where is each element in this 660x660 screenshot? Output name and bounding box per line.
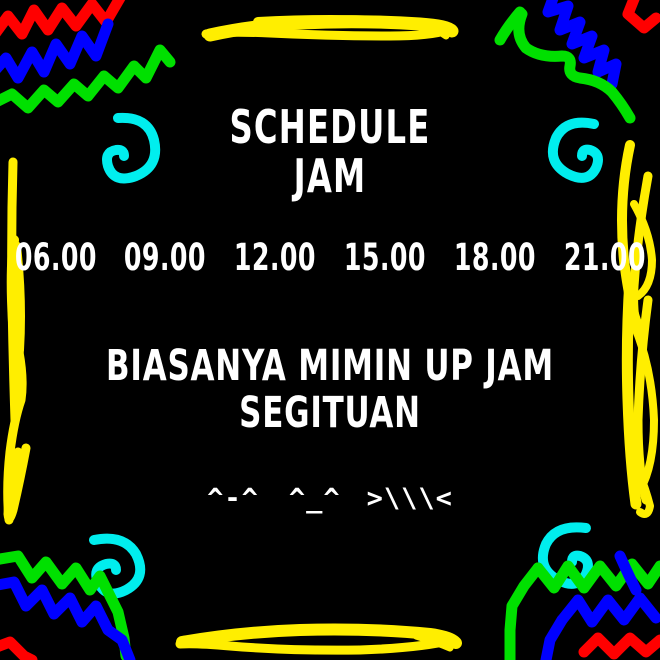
schedule-time-slot: 06.00 (14, 236, 97, 279)
emoticon-fish: >\\\< (367, 483, 453, 514)
body-text-line-2: SEGITUAN (66, 392, 594, 435)
page-title-line-2: JAM (73, 153, 588, 199)
schedule-time-slot: 18.00 (453, 236, 536, 279)
schedule-time-slot: 21.00 (563, 236, 646, 279)
emoticon-happy-cat: ^-^ (207, 483, 259, 514)
text-layer: SCHEDULE JAM 06.00 09.00 12.00 15.00 18.… (0, 0, 660, 660)
page-title-line-1: SCHEDULE (73, 104, 588, 150)
emoticon-smile: ^_^ (289, 483, 341, 514)
emoticon-row: ^-^ ^_^ >\\\< (0, 483, 660, 514)
body-text-line-1: BIASANYA MIMIN UP JAM (66, 345, 594, 388)
schedule-time-slot: 12.00 (233, 236, 316, 279)
poster-canvas: SCHEDULE JAM 06.00 09.00 12.00 15.00 18.… (0, 0, 660, 660)
schedule-time-slot: 09.00 (124, 236, 207, 279)
schedule-time-row: 06.00 09.00 12.00 15.00 18.00 21.00 (0, 236, 660, 279)
schedule-time-slot: 15.00 (343, 236, 426, 279)
